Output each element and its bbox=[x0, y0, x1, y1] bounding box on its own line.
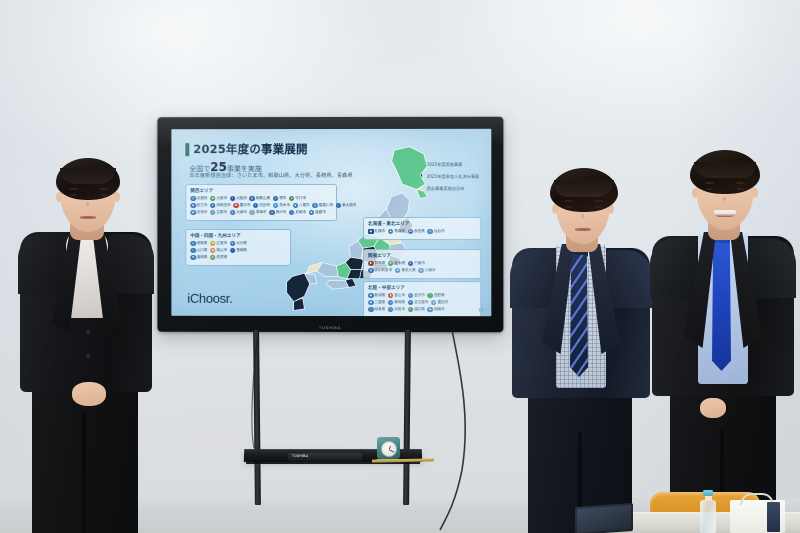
panel-row: ◎京都府 ◉大阪市 ✦大阪府 ◍和歌山県 ◎堺市 ●守口市 bbox=[190, 195, 332, 201]
panel-hokkaido-tohoku[interactable]: 北海道・東北エリア ◉札幌市 ▲青森県 ⌘秋田県 ◎仙台市 bbox=[363, 217, 481, 240]
panel-title: 北陸・中部エリア bbox=[368, 285, 476, 291]
municipality-label: 長崎県 bbox=[236, 248, 247, 253]
panel-title: 北海道・東北エリア bbox=[368, 220, 476, 226]
hair-fringe bbox=[554, 180, 614, 197]
municipality-label: 福井県 bbox=[414, 307, 425, 312]
panel-row: ⌁岐阜県 ◎浜松市 ✔福井県 ◉岡崎市 bbox=[368, 307, 476, 313]
panel-kansai[interactable]: 関西エリア ◎京都府 ◉大阪市 ✦大阪府 ◍和歌山県 ◎堺市 ●守口市 ◆枚方市… bbox=[185, 184, 337, 221]
municipality-label: 草津市 bbox=[256, 210, 267, 215]
soundbar-brand-label: TOSHIBA bbox=[292, 454, 308, 458]
municipality-chip[interactable]: ◉奈良市 bbox=[190, 210, 207, 215]
municipality-chip[interactable]: ◍大津市 bbox=[230, 210, 247, 215]
municipality-chip[interactable]: ✚福岡県 bbox=[190, 255, 207, 260]
municipality-chip[interactable]: ◌草津市 bbox=[249, 210, 266, 215]
municipality-icon: ◉ bbox=[368, 229, 374, 235]
municipality-chip[interactable]: ◆枚方市 bbox=[190, 203, 207, 208]
ear-right bbox=[114, 192, 120, 202]
municipality-label: 守口市 bbox=[295, 196, 306, 201]
media-device[interactable]: TOSHIBA bbox=[288, 453, 362, 461]
municipality-label: 青森県 bbox=[394, 229, 405, 234]
municipality-chip[interactable]: ▲青森県 bbox=[388, 229, 405, 235]
ear-left bbox=[692, 188, 698, 198]
municipality-icon: ✔ bbox=[408, 307, 414, 313]
municipality-icon: ◉ bbox=[368, 293, 374, 299]
hair-fringe bbox=[60, 168, 116, 184]
municipality-label: 金沢市 bbox=[414, 293, 425, 298]
municipality-label: 京都府 bbox=[197, 196, 208, 201]
municipality-icon: ◎ bbox=[418, 268, 424, 274]
jacket-shoulder-right bbox=[108, 234, 154, 294]
municipality-icon: ▲ bbox=[388, 229, 394, 235]
municipality-icon: ◎ bbox=[427, 229, 433, 235]
municipality-icon: ◎ bbox=[190, 196, 195, 201]
municipality-label: 岸和田市 bbox=[216, 203, 230, 208]
municipality-icon: ✦ bbox=[408, 300, 414, 306]
municipality-icon: ◎ bbox=[388, 307, 394, 313]
municipality-label: 茨木市 bbox=[279, 203, 290, 208]
municipality-label: 神奈川県 bbox=[401, 268, 415, 273]
municipality-chip[interactable]: ✿三重県 bbox=[368, 300, 385, 306]
panel-row: ◍さいたま市 ❀神奈川県 ◎川崎市 bbox=[368, 268, 476, 274]
municipality-chip[interactable]: ◐吹田市 bbox=[253, 203, 270, 208]
municipality-chip[interactable]: ◎鳥取県 bbox=[190, 240, 207, 245]
municipality-chip[interactable]: ◍さいたま市 bbox=[368, 268, 392, 274]
gold-pointer bbox=[372, 458, 434, 462]
eyebrow-left bbox=[705, 182, 714, 184]
jacket-button bbox=[86, 330, 90, 334]
bag-contents bbox=[767, 502, 780, 532]
municipality-chip[interactable]: ✤栃木県 bbox=[388, 261, 405, 267]
panel-title: 中国・四国・九州エリア bbox=[190, 232, 286, 238]
person-right bbox=[640, 140, 800, 533]
municipality-icon: ◍ bbox=[368, 268, 374, 274]
trouser-gap bbox=[82, 412, 86, 533]
municipality-label: 浜松市 bbox=[394, 307, 405, 312]
municipality-chip[interactable]: ◎静岡県 bbox=[388, 300, 405, 306]
municipality-icon: ▮ bbox=[388, 293, 394, 299]
municipality-icon: ◎ bbox=[388, 300, 394, 306]
municipality-icon: ▤ bbox=[210, 255, 215, 260]
tv-stand-pole-right bbox=[403, 330, 411, 505]
jacket-button bbox=[86, 354, 90, 358]
municipality-icon: ◍ bbox=[230, 210, 235, 215]
municipality-chip[interactable]: ✦大阪府 bbox=[230, 196, 247, 201]
municipality-chip[interactable]: ◍和歌山県 bbox=[249, 196, 270, 202]
municipality-label: 鳥取県 bbox=[197, 241, 208, 246]
municipality-chip[interactable]: ✶千葉市 bbox=[408, 261, 425, 267]
municipality-icon: ◎ bbox=[269, 210, 274, 215]
jacket-shoulder-left bbox=[18, 234, 64, 294]
municipality-icon: ◌ bbox=[249, 210, 254, 215]
municipality-icon: ◈ bbox=[210, 203, 215, 208]
municipality-chip[interactable]: ◉新潟県 bbox=[368, 293, 385, 299]
municipality-chip[interactable]: ◉姫路市 bbox=[309, 210, 326, 216]
paper-bag[interactable] bbox=[730, 500, 785, 533]
municipality-label: 豊中市 bbox=[240, 203, 251, 208]
nose bbox=[86, 202, 89, 206]
panel-row: ◐山口県 ▦岡山市 ≈長崎県 bbox=[190, 248, 286, 254]
municipality-chip[interactable]: ◇東大阪市 bbox=[336, 203, 357, 209]
panel-row: ◉新潟県 ▮富山市 ✧金沢市 ◠長野県 bbox=[368, 293, 476, 299]
hands-clasped bbox=[72, 382, 106, 406]
municipality-icon: ◐ bbox=[190, 248, 195, 253]
municipality-label: 大分県 bbox=[236, 241, 247, 246]
municipality-icon: ◇ bbox=[336, 203, 342, 209]
municipality-label: 岡崎市 bbox=[434, 307, 445, 312]
municipality-label: 広島市 bbox=[216, 241, 227, 246]
municipality-label: 福岡県 bbox=[197, 255, 208, 260]
panel-row: ◉奈良市 ◎生駒市 ◍大津市 ◌草津市 ◎神戸市 ◑尼崎市 ◉姫路市 bbox=[190, 210, 332, 216]
presentation-slide: 2025年度の事業展開 全国で25事業を実施 本年度新規自治体：さいたま市、和歌… bbox=[171, 129, 491, 316]
panel-chugoku-shikoku-kyushu[interactable]: 中国・四国・九州エリア ◎鳥取県 ✿広島市 ◍大分県 ◐山口県 ▦岡山市 ≈長崎… bbox=[185, 229, 291, 266]
municipality-icon: ✿ bbox=[210, 240, 215, 245]
municipality-chip[interactable]: ◠長野県 bbox=[427, 293, 444, 299]
title-accent-bar bbox=[185, 143, 189, 156]
municipality-chip[interactable]: ◎京都府 bbox=[190, 196, 207, 201]
municipality-label: 佐賀県 bbox=[216, 255, 227, 260]
municipality-icon: ◎ bbox=[273, 196, 278, 201]
municipality-label: 寝屋川市 bbox=[319, 203, 333, 208]
municipality-label: 吹田市 bbox=[260, 203, 271, 208]
municipality-icon: ✧ bbox=[408, 293, 414, 299]
municipality-label: 札幌市 bbox=[375, 229, 386, 234]
municipality-label: 仙台市 bbox=[434, 229, 445, 234]
municipality-label: 群馬県 bbox=[375, 261, 386, 266]
jacket-shoulder-left bbox=[650, 238, 700, 298]
slide-page-number: 12 bbox=[478, 307, 483, 312]
municipality-chip[interactable]: ▮富山市 bbox=[388, 293, 405, 299]
municipality-icon: ✱ bbox=[233, 203, 238, 208]
municipality-icon: ◉ bbox=[427, 307, 433, 313]
municipality-chip[interactable]: ●守口市 bbox=[289, 196, 306, 202]
municipality-label: 八尾市 bbox=[299, 203, 310, 208]
eyebrow-left bbox=[564, 200, 573, 202]
municipality-label: 千葉市 bbox=[414, 261, 425, 266]
tv-stand-pole-left bbox=[253, 330, 261, 505]
municipality-label: 姫路市 bbox=[315, 210, 326, 215]
municipality-label: 大阪府 bbox=[236, 196, 247, 201]
municipality-chip[interactable]: ◎仙台市 bbox=[427, 229, 444, 235]
municipality-icon: ✚ bbox=[190, 255, 195, 260]
municipality-chip[interactable]: ◍豊田市 bbox=[431, 300, 448, 306]
panel-kanto[interactable]: 関東エリア ♞群馬県 ✤栃木県 ✶千葉市 ◍さいたま市 ❀神奈川県 ◎川崎市 bbox=[363, 249, 481, 279]
ichoosr-logo: iChoosr. bbox=[187, 291, 232, 306]
municipality-chip[interactable]: ✱豊中市 bbox=[233, 203, 250, 208]
nose bbox=[723, 197, 726, 201]
tv-brand-label: TOSHIBA bbox=[319, 325, 341, 330]
municipality-chip[interactable]: ◉岡崎市 bbox=[427, 307, 444, 313]
municipality-label: 大阪市 bbox=[216, 196, 227, 201]
person-center bbox=[502, 160, 662, 533]
panel-title: 関東エリア bbox=[368, 253, 476, 259]
municipality-icon: ◎ bbox=[312, 203, 317, 209]
municipality-label: 富山市 bbox=[394, 293, 405, 298]
clock-body bbox=[377, 437, 400, 459]
municipality-chip[interactable]: ✧金沢市 bbox=[408, 293, 425, 299]
mouth bbox=[575, 228, 591, 231]
municipality-chip[interactable]: ◑尼崎市 bbox=[289, 210, 306, 216]
panel-title: 関西エリア bbox=[190, 187, 332, 193]
municipality-label: 川崎市 bbox=[425, 268, 436, 273]
municipality-icon: ◎ bbox=[210, 210, 215, 215]
municipality-label: 奈良市 bbox=[197, 210, 208, 215]
municipality-chip[interactable]: ✿広島市 bbox=[210, 240, 227, 245]
hand bbox=[700, 398, 726, 418]
municipality-chip[interactable]: ◎神戸市 bbox=[269, 210, 286, 215]
municipality-icon: ⌁ bbox=[368, 307, 374, 313]
municipality-chip[interactable]: ✦名古屋市 bbox=[408, 300, 429, 306]
municipality-icon: ◐ bbox=[253, 203, 258, 208]
municipality-chip[interactable]: ▤佐賀県 bbox=[210, 255, 227, 260]
municipality-label: 枚方市 bbox=[197, 203, 208, 208]
municipality-chip[interactable]: ✔福井県 bbox=[408, 307, 425, 313]
panel-row: ◎鳥取県 ✿広島市 ◍大分県 bbox=[190, 240, 286, 246]
municipality-chip[interactable]: ◎川崎市 bbox=[418, 268, 435, 274]
municipality-icon: ◍ bbox=[431, 300, 437, 306]
mouth bbox=[714, 210, 736, 217]
municipality-chip[interactable]: ◎寝屋川市 bbox=[312, 203, 333, 209]
municipality-label: 東大阪市 bbox=[342, 203, 356, 208]
municipality-label: 生駒市 bbox=[216, 210, 227, 215]
municipality-chip[interactable]: ◉八尾市 bbox=[293, 203, 310, 209]
municipality-icon: ◉ bbox=[309, 210, 314, 215]
panel-row: ♞群馬県 ✤栃木県 ✶千葉市 bbox=[368, 261, 476, 267]
necktie bbox=[570, 255, 588, 377]
municipality-icon: ◍ bbox=[230, 240, 235, 245]
jacket-shoulder-right bbox=[746, 238, 796, 298]
municipality-icon: ◉ bbox=[190, 210, 195, 215]
municipality-chip[interactable]: ⌘秋田県 bbox=[408, 229, 425, 235]
municipality-label: 秋田県 bbox=[414, 229, 425, 234]
municipality-label: 新潟県 bbox=[375, 293, 386, 298]
water-bottle[interactable] bbox=[700, 490, 716, 533]
eyebrow-right bbox=[99, 188, 108, 190]
municipality-icon: ◎ bbox=[190, 240, 195, 245]
municipality-chip[interactable]: ◎浜松市 bbox=[388, 307, 405, 313]
municipality-icon: ✶ bbox=[408, 261, 414, 267]
municipality-icon: ◆ bbox=[190, 203, 195, 208]
ear-left bbox=[56, 192, 62, 202]
municipality-chip[interactable]: ◎堺市 bbox=[273, 196, 287, 202]
municipality-label: 岡山市 bbox=[216, 248, 227, 253]
municipality-icon: ◑ bbox=[289, 210, 294, 215]
municipality-icon: ❀ bbox=[395, 268, 401, 274]
municipality-label: 栃木県 bbox=[394, 261, 405, 266]
municipality-label: 堺市 bbox=[279, 196, 286, 201]
panel-row: ◆枚方市 ◈岸和田市 ✱豊中市 ◐吹田市 ◍茨木市 ◉八尾市 ◎寝屋川市 ◇東大… bbox=[190, 203, 332, 209]
municipality-icon: ◍ bbox=[249, 196, 254, 201]
laptop-screen bbox=[577, 505, 631, 533]
municipality-icon: ✤ bbox=[388, 261, 394, 267]
municipality-chip[interactable]: ≈長崎県 bbox=[230, 248, 247, 253]
panel-row: ✚福岡県 ▤佐賀県 bbox=[190, 255, 286, 261]
municipality-label: 和歌山県 bbox=[256, 196, 270, 201]
laptop[interactable] bbox=[575, 503, 633, 533]
municipality-chip[interactable]: ▦岡山市 bbox=[210, 248, 227, 253]
panel-hokuriku-chubu[interactable]: 北陸・中部エリア ◉新潟県 ▮富山市 ✧金沢市 ◠長野県 ✿三重県 ◎静岡県 ✦… bbox=[363, 281, 481, 316]
municipality-label: 大津市 bbox=[236, 210, 247, 215]
municipality-chip[interactable]: ◈岸和田市 bbox=[210, 203, 231, 208]
municipality-chip[interactable]: ♞群馬県 bbox=[368, 261, 385, 267]
municipality-label: 名古屋市 bbox=[414, 300, 428, 305]
municipality-icon: ◍ bbox=[273, 203, 278, 208]
nose bbox=[581, 214, 584, 218]
television[interactable]: TOSHIBA 2025年度の事業展開 全国で25事業を実施 本年度新規自治体：… bbox=[157, 117, 503, 333]
municipality-label: 尼崎市 bbox=[295, 210, 306, 215]
municipality-label: 豊田市 bbox=[438, 300, 449, 305]
municipality-icon: ✦ bbox=[230, 196, 235, 201]
municipality-icon: ✿ bbox=[368, 300, 374, 306]
municipality-chip[interactable]: ◍茨木市 bbox=[273, 203, 290, 209]
municipality-label: 岐阜県 bbox=[375, 307, 386, 312]
eyebrow-right bbox=[736, 182, 745, 184]
municipality-icon: ⌘ bbox=[408, 229, 414, 235]
panel-row: ◉札幌市 ▲青森県 ⌘秋田県 ◎仙台市 bbox=[368, 229, 476, 235]
municipality-icon: ◉ bbox=[210, 196, 215, 201]
clock-face bbox=[381, 441, 397, 457]
panel-row: ✿三重県 ◎静岡県 ✦名古屋市 ◍豊田市 bbox=[368, 300, 476, 306]
municipality-icon: ♞ bbox=[368, 261, 374, 267]
municipality-label: 三重県 bbox=[375, 300, 386, 305]
municipality-chip[interactable]: ❀神奈川県 bbox=[395, 268, 416, 274]
municipality-label: 山口県 bbox=[197, 248, 208, 253]
mouth bbox=[80, 216, 96, 219]
municipality-icon: ● bbox=[289, 196, 294, 201]
necktie bbox=[712, 243, 731, 371]
municipality-chip[interactable]: ◍大分県 bbox=[230, 240, 247, 245]
municipality-chip[interactable]: ◉札幌市 bbox=[368, 229, 385, 235]
municipality-chip[interactable]: ⌁岐阜県 bbox=[368, 307, 385, 313]
municipality-chip[interactable]: ◎生駒市 bbox=[210, 210, 227, 215]
eyebrow-right bbox=[594, 200, 603, 202]
eyebrow-left bbox=[69, 188, 78, 190]
municipality-chip[interactable]: ◉大阪市 bbox=[210, 196, 227, 201]
municipality-icon: ◠ bbox=[427, 293, 433, 299]
ear-right bbox=[752, 188, 758, 198]
municipality-label: 静岡県 bbox=[394, 300, 405, 305]
photo-scene: TOSHIBA 2025年度の事業展開 全国で25事業を実施 本年度新規自治体：… bbox=[0, 0, 800, 533]
municipality-icon: ▦ bbox=[210, 248, 215, 253]
municipality-label: 神戸市 bbox=[276, 210, 287, 215]
municipality-label: 長野県 bbox=[434, 293, 445, 298]
municipality-icon: ◉ bbox=[293, 203, 298, 208]
bottle-body bbox=[700, 500, 716, 533]
hair-fringe bbox=[694, 162, 756, 178]
municipality-label: さいたま市 bbox=[375, 268, 393, 273]
municipality-icon: ≈ bbox=[230, 248, 235, 253]
municipality-chip[interactable]: ◐山口県 bbox=[190, 248, 207, 253]
person-left bbox=[10, 150, 170, 533]
